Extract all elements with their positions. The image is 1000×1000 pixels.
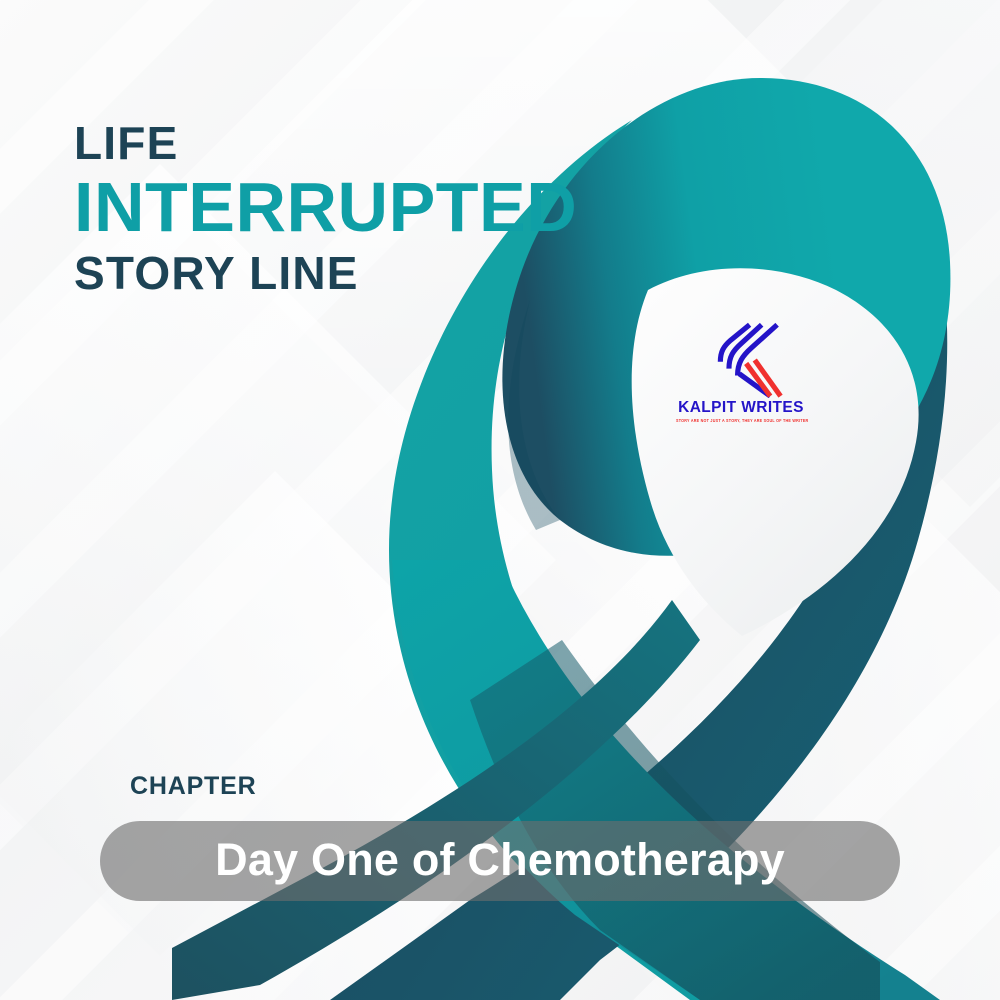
poster-canvas: KALPIT WRITES STORY ARE NOT JUST A STORY…: [0, 0, 1000, 1000]
headline-line-3: STORY LINE: [74, 250, 577, 296]
headline: LIFE INTERRUPTED STORY LINE: [74, 120, 577, 296]
chapter-title: Day One of Chemotherapy: [215, 834, 785, 886]
chapter-title-pill: Day One of Chemotherapy: [100, 821, 900, 901]
headline-line-1: LIFE: [74, 120, 577, 166]
headline-line-2: INTERRUPTED: [74, 172, 577, 242]
chapter-label: CHAPTER: [130, 772, 256, 801]
